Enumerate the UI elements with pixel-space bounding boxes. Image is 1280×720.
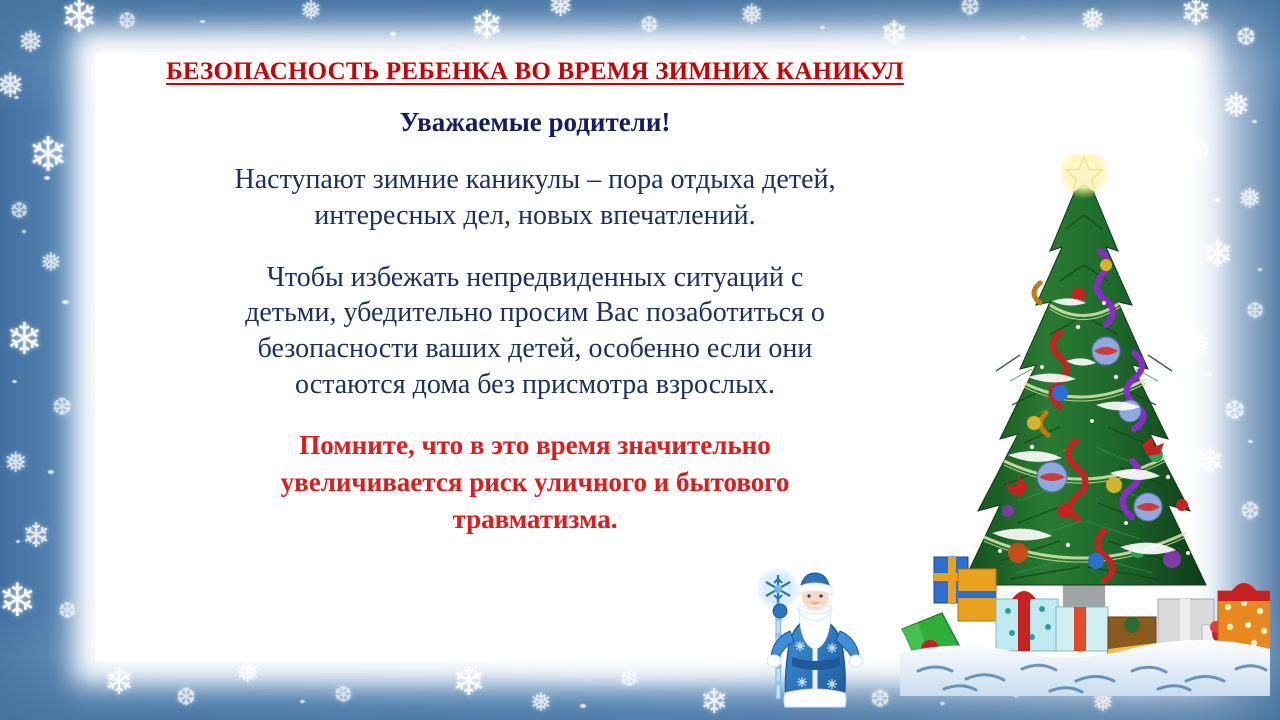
christmas-tree-icon <box>900 155 1270 700</box>
snowflake-icon: ❄ <box>104 664 134 700</box>
christmas-tree-illustration <box>900 155 1270 700</box>
paragraph-request-line4: остаются дома без присмотра взрослых. <box>115 367 955 403</box>
snow-speck <box>580 704 586 708</box>
snowflake-icon: ❆ <box>334 684 352 706</box>
snowflake-icon: ❄ <box>22 520 51 554</box>
paragraph-intro-line1: Наступают зимние каникулы – пора отдыха … <box>120 162 950 198</box>
snow-speck <box>300 700 305 703</box>
snowflake-icon: ❆ <box>960 0 980 20</box>
snowflake-icon: ❅ <box>300 0 322 24</box>
snow-speck <box>940 702 945 705</box>
paragraph-warning: Помните, что в это время значительно уве… <box>175 427 895 539</box>
paragraph-warning-line1: Помните, что в это время значительно <box>175 427 895 464</box>
snow-speck <box>14 96 19 99</box>
snow-speck <box>1252 120 1257 123</box>
snowflake-icon: ❄ <box>470 6 504 46</box>
ded-moroz-icon <box>752 565 872 713</box>
snowflake-icon: ❅ <box>548 0 573 22</box>
snowflake-icon: ❅ <box>740 2 763 30</box>
snowflake-icon: ❆ <box>176 686 196 710</box>
paragraph-request-line3: безопасности ваших детей, особенно если … <box>115 331 955 367</box>
snowflake-icon: ❆ <box>640 14 658 36</box>
snow-speck <box>16 540 20 543</box>
snowflake-icon: ❆ <box>10 200 28 222</box>
snow-speck <box>390 32 396 36</box>
snowflake-icon: ❅ <box>0 70 25 104</box>
paragraph-intro: Наступают зимние каникулы – пора отдыха … <box>120 162 950 234</box>
page-title: БЕЗОПАСНОСТЬ РЕБЕНКА ВО ВРЕМЯ ЗИМНИХ КАН… <box>105 52 965 88</box>
paragraph-intro-line2: интересных дел, новых впечатлений. <box>120 198 950 234</box>
snowflake-icon: ❅ <box>236 660 259 688</box>
snow-speck <box>62 300 69 304</box>
snowflake-icon: ❄ <box>880 18 909 52</box>
snow-speck <box>12 380 17 383</box>
snowflake-icon: ❅ <box>40 250 62 276</box>
snowflake-icon: ❄ <box>0 578 37 624</box>
paragraph-request: Чтобы избежать непредвиденных ситуаций с… <box>115 260 955 403</box>
snowflake-icon: ❆ <box>118 10 136 32</box>
snowflake-icon: ❅ <box>18 28 43 58</box>
snowflake-icon: ❅ <box>1222 90 1251 124</box>
snow-speck <box>820 26 825 29</box>
paragraph-request-line1: Чтобы избежать непредвиденных ситуаций с <box>115 260 955 296</box>
snowflake-icon: ❆ <box>52 396 72 420</box>
paragraph-warning-line2: увеличивается риск уличного и бытового <box>175 464 895 501</box>
snowflake-icon: ❆ <box>870 688 890 712</box>
poster-content: БЕЗОПАСНОСТЬ РЕБЕНКА ВО ВРЕМЯ ЗИМНИХ КАН… <box>105 52 965 539</box>
gift-box-teal <box>996 591 1058 651</box>
snow-speck <box>22 230 26 233</box>
gift-box-white <box>1056 607 1108 651</box>
snowflake-icon: ❄ <box>6 318 43 362</box>
snowflake-icon: ❅ <box>530 690 552 716</box>
paragraph-request-line2: детьми, убедительно просим Вас позаботит… <box>115 295 955 331</box>
ded-moroz-illustration <box>752 565 872 713</box>
snowflake-icon: ❆ <box>620 668 638 690</box>
snowflake-icon: ❅ <box>4 450 27 478</box>
snowflake-icon: ❄ <box>1180 0 1212 32</box>
snow-speck <box>48 470 54 474</box>
winter-safety-poster: ❄ ❅ ❆ ❅ ❄ ❅ ❆ ❅ ❄ ❆ ❅ ❄ ❆ ❅ ❄ ❆ ❅ ❄ ❆ ❅ … <box>0 0 1280 720</box>
snow-speck <box>200 20 205 23</box>
snowflake-icon: ❄ <box>700 686 729 720</box>
subtitle-greeting: Уважаемые родители! <box>105 107 965 138</box>
paragraph-warning-line3: травматизма. <box>175 501 895 538</box>
snowflake-icon: ❄ <box>28 132 68 180</box>
snowflake-icon: ❆ <box>58 600 76 622</box>
snowflake-icon: ❄ <box>60 0 99 40</box>
snowflake-icon: ❆ <box>1236 26 1256 50</box>
snow-speck <box>1020 36 1026 40</box>
snowflake-icon: ❄ <box>452 662 486 702</box>
snow-speck <box>44 176 50 180</box>
snowflake-icon: ❅ <box>1080 6 1105 36</box>
